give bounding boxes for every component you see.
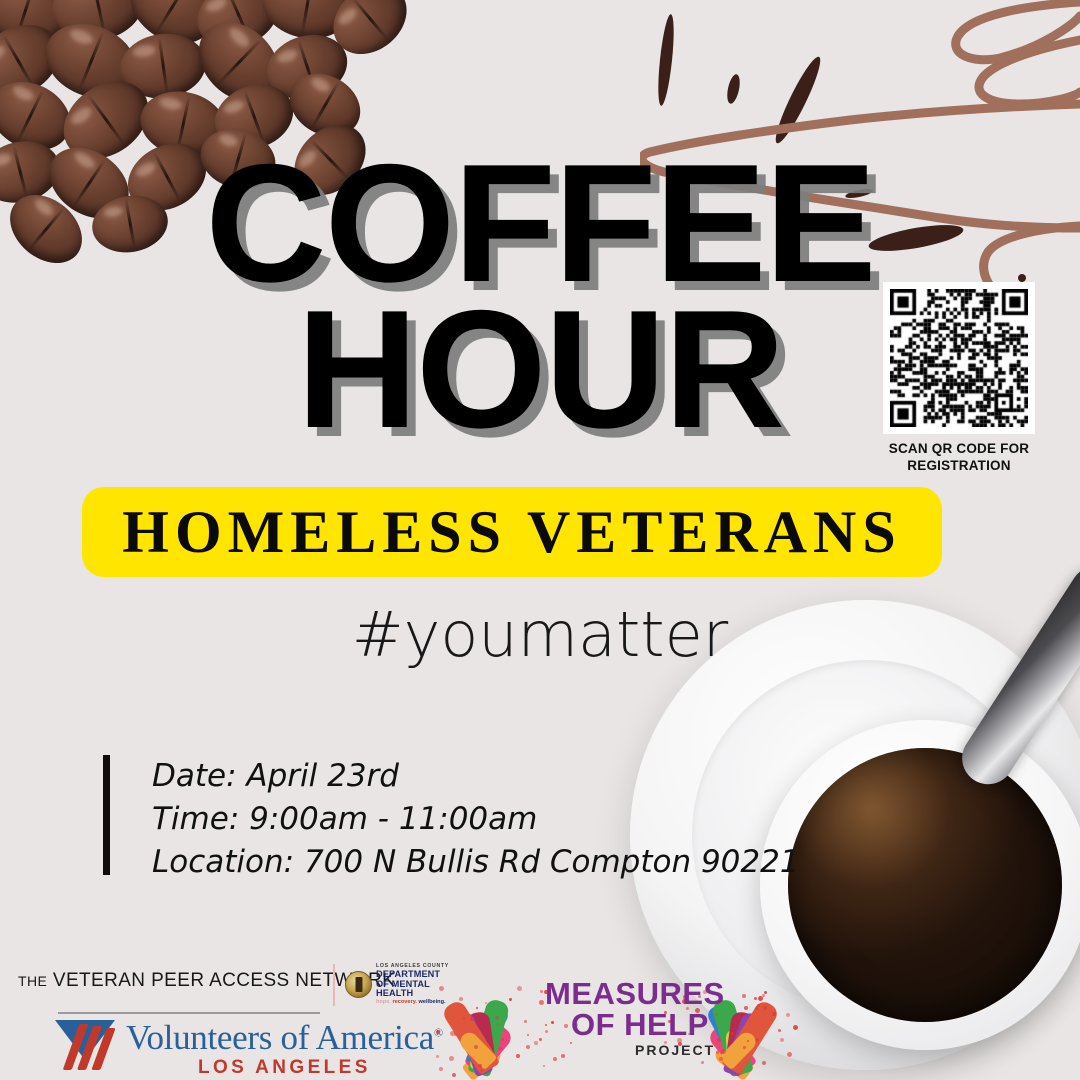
moh-line-3: PROJECT xyxy=(635,1043,725,1057)
vpan-the: THE xyxy=(18,973,47,989)
footer-divider xyxy=(333,964,335,1006)
subtitle-banner-text: HOMELESS VETERANS xyxy=(122,498,901,567)
vpan-name: VETERAN PEER ACCESS NETWORK xyxy=(53,970,395,991)
coffee-hour-flyer: COFFEE HOUR HOMELESS VETERANS #youmatter… xyxy=(0,0,1080,1080)
voa-name: Volunteers of America xyxy=(126,1018,434,1057)
qr-caption-line-1: SCAN QR CODE FOR xyxy=(876,441,1042,458)
qr-code-frame[interactable] xyxy=(883,282,1035,434)
qr-code-icon[interactable] xyxy=(890,289,1028,427)
vpan-logo: THE VETERAN PEER ACCESS NETWORK xyxy=(18,970,328,992)
footer-horizontal-line xyxy=(58,1012,320,1014)
moh-line-2: OF HELP xyxy=(571,1009,725,1040)
qr-caption-line-2: REGISTRATION xyxy=(876,458,1042,475)
voa-logo: Volunteers of America® LOS ANGELES xyxy=(55,1020,443,1077)
details-accent-rule xyxy=(103,755,110,875)
dmh-tag-recovery: recovery. xyxy=(392,999,416,1005)
measures-of-help-logo: MEASURES OF HELP PROJECT xyxy=(430,960,800,1080)
qr-code-block[interactable]: SCAN QR CODE FOR REGISTRATION xyxy=(876,282,1042,475)
footer-logos: THE VETERAN PEER ACCESS NETWORK LOS ANGE… xyxy=(0,960,1080,1080)
hashtag-text: #youmatter xyxy=(0,598,1080,671)
dmh-tag-hope: hope. xyxy=(376,999,391,1005)
voa-region: LOS ANGELES xyxy=(126,1058,443,1077)
raised-hands-icon xyxy=(430,970,550,1080)
event-details: Date: April 23rd Time: 9:00am - 11:00am … xyxy=(103,755,800,883)
moh-line-1: MEASURES xyxy=(545,978,725,1009)
event-time: Time: 9:00am - 11:00am xyxy=(152,798,800,841)
qr-code-caption: SCAN QR CODE FOR REGISTRATION xyxy=(876,441,1042,475)
subtitle-banner: HOMELESS VETERANS xyxy=(82,487,942,577)
voa-mark-icon xyxy=(55,1020,119,1070)
event-location: Location: 700 N Bullis Rd Compton 90221 xyxy=(152,841,800,884)
event-date: Date: April 23rd xyxy=(152,755,800,798)
county-seal-icon xyxy=(345,971,372,998)
